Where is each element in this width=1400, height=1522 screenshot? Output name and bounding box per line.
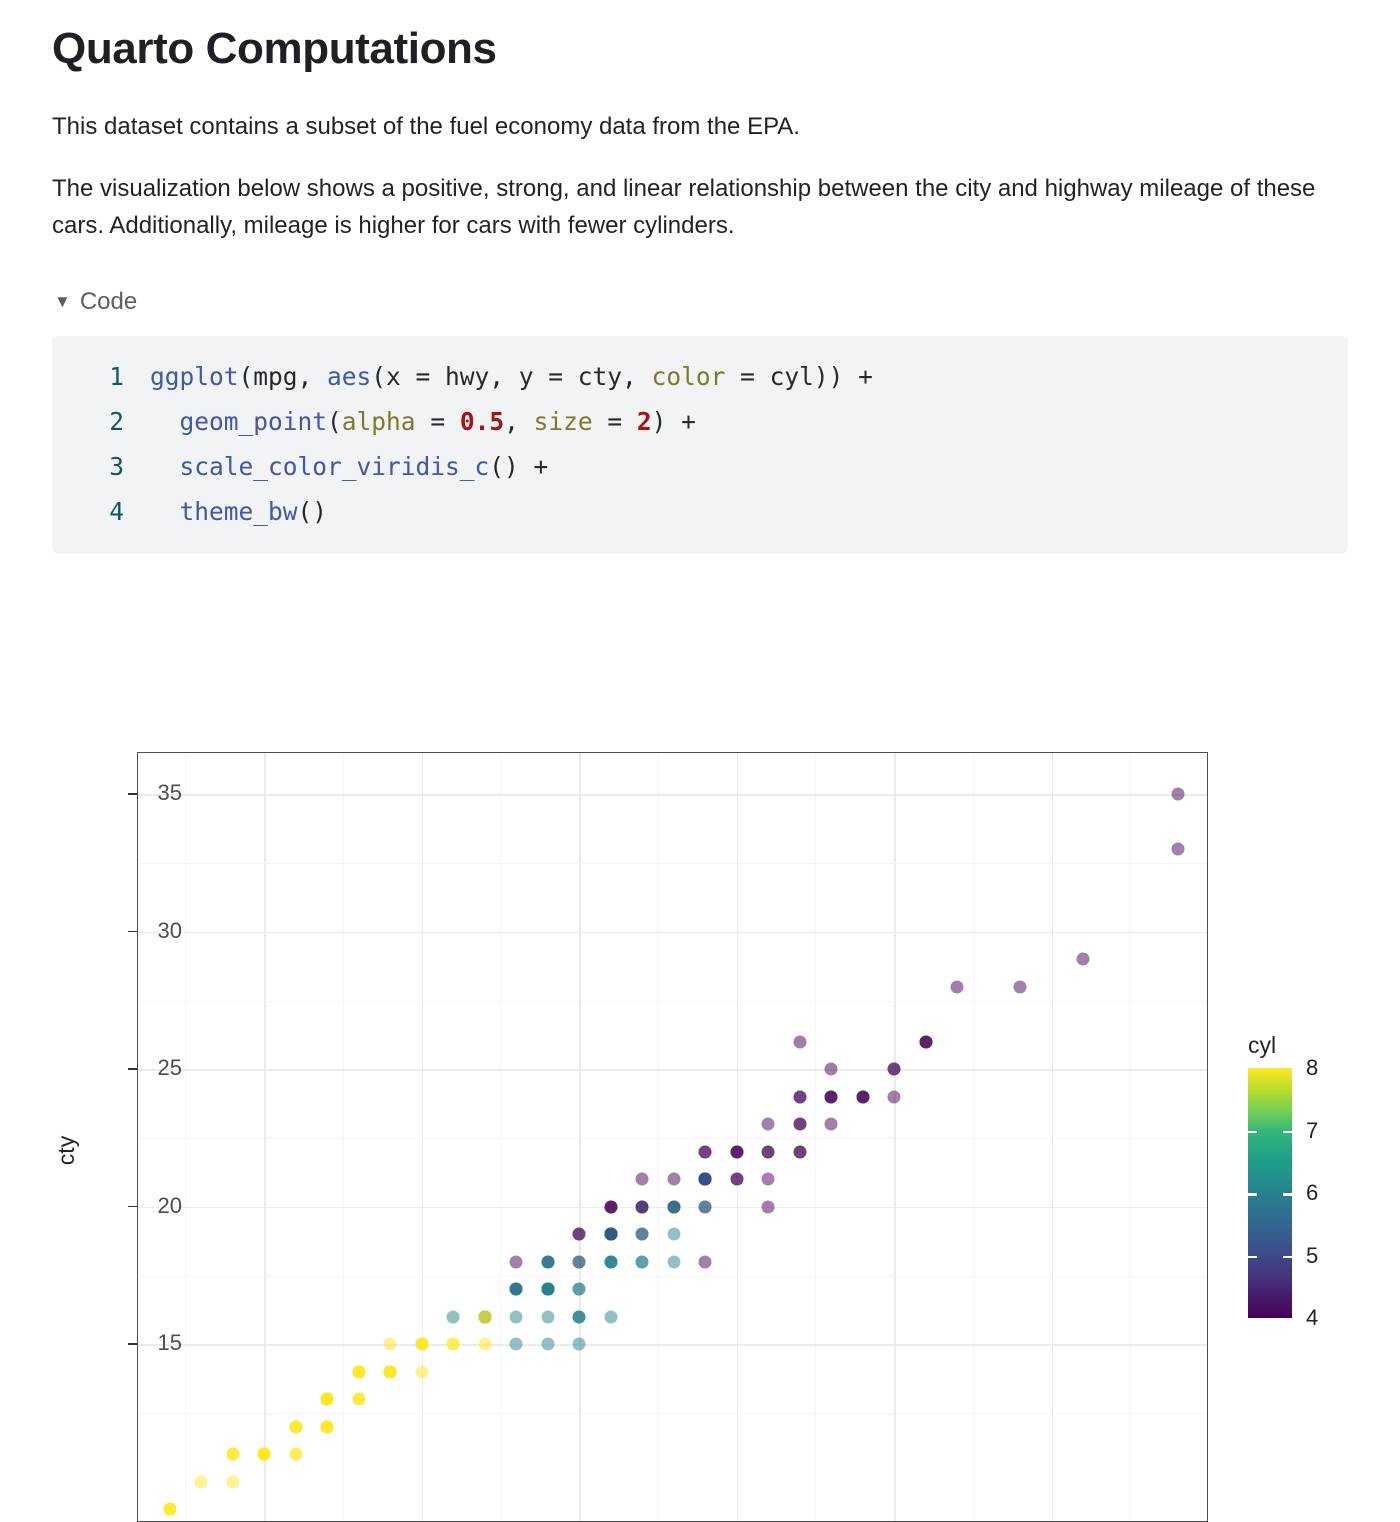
scatter-point (604, 1200, 617, 1213)
y-axis-tick-mark (128, 1206, 137, 1208)
gridline-minor-vertical (500, 753, 501, 1521)
scatter-point (415, 1365, 428, 1378)
y-axis-label: cty (53, 1136, 80, 1165)
scatter-point (541, 1338, 554, 1351)
scatter-point (793, 1035, 806, 1048)
scatter-point (541, 1255, 554, 1268)
gridline-major-horizontal (138, 794, 1207, 796)
scatter-point (510, 1338, 523, 1351)
scatter-point (762, 1173, 775, 1186)
y-axis-tick-mark (128, 1343, 137, 1345)
scatter-point (573, 1283, 586, 1296)
scatter-point (447, 1310, 460, 1323)
y-axis-tick-label: 25 (158, 1055, 182, 1081)
y-axis-tick-mark (128, 1068, 137, 1070)
scatter-point (762, 1145, 775, 1158)
scatter-point (730, 1145, 743, 1158)
legend-gradient (1248, 1068, 1292, 1318)
y-axis-tick-label: 15 (158, 1330, 182, 1356)
gridline-minor-vertical (1130, 753, 1131, 1521)
scatter-point (604, 1255, 617, 1268)
scatter-point (573, 1228, 586, 1241)
page-title: Quarto Computations (52, 24, 1352, 75)
gridline-minor-vertical (973, 753, 974, 1521)
code-line-text: theme_bw() (150, 489, 327, 534)
scatter-point (699, 1200, 712, 1213)
scatter-point (825, 1090, 838, 1103)
y-axis-tick-mark (128, 793, 137, 795)
scatter-point (793, 1145, 806, 1158)
scatter-point (636, 1228, 649, 1241)
code-line-number: 1 (52, 354, 150, 399)
scatter-point (226, 1448, 239, 1461)
scatter-point (258, 1448, 271, 1461)
gridline-minor-horizontal (138, 1413, 1207, 1414)
scatter-point (226, 1475, 239, 1488)
scatter-point (289, 1448, 302, 1461)
legend-tick-mark (1248, 1131, 1257, 1134)
scatter-plot-figure: 1520253035 cty cyl 87654 (0, 742, 1400, 1522)
code-line: 2 geom_point(alpha = 0.5, size = 2) + (52, 399, 1348, 444)
scatter-point (825, 1063, 838, 1076)
scatter-point (478, 1310, 491, 1323)
scatter-point (352, 1365, 365, 1378)
legend-tick-mark (1283, 1256, 1292, 1259)
scatter-point (321, 1393, 334, 1406)
y-axis-tick-label: 35 (158, 780, 182, 806)
document-body: Quarto Computations This dataset contain… (52, 24, 1352, 554)
scatter-point (762, 1200, 775, 1213)
scatter-point (541, 1310, 554, 1323)
scatter-point (510, 1283, 523, 1296)
intro-paragraph: This dataset contains a subset of the fu… (52, 109, 1352, 145)
scatter-point (793, 1090, 806, 1103)
scatter-point (604, 1310, 617, 1323)
gridline-minor-vertical (343, 753, 344, 1521)
code-line-number: 2 (52, 399, 150, 444)
scatter-point (667, 1255, 680, 1268)
gridline-minor-vertical (185, 753, 186, 1521)
gridline-major-vertical (579, 753, 581, 1521)
gridline-major-vertical (422, 753, 424, 1521)
scatter-point (573, 1255, 586, 1268)
legend-tick-mark (1248, 1256, 1257, 1259)
scatter-point (604, 1228, 617, 1241)
legend-colorbar[interactable]: cyl 87654 (1248, 1032, 1388, 1318)
scatter-point (667, 1228, 680, 1241)
scatter-point (163, 1503, 176, 1516)
code-line: 1ggplot(mpg, aes(x = hwy, y = cty, color… (52, 354, 1348, 399)
scatter-point (195, 1475, 208, 1488)
gridline-major-horizontal (138, 1344, 1207, 1346)
scatter-point (384, 1338, 397, 1351)
scatter-point (352, 1393, 365, 1406)
scatter-point (667, 1200, 680, 1213)
scatter-point (636, 1255, 649, 1268)
scatter-point (510, 1310, 523, 1323)
scatter-point (541, 1283, 554, 1296)
y-axis-tick-label: 20 (158, 1193, 182, 1219)
legend-tick-label: 4 (1306, 1305, 1318, 1331)
scatter-point (699, 1255, 712, 1268)
scatter-point (951, 980, 964, 993)
scatter-point (573, 1310, 586, 1323)
gridline-minor-horizontal (138, 1276, 1207, 1277)
scatter-point (667, 1173, 680, 1186)
gridline-minor-vertical (815, 753, 816, 1521)
y-axis-tick-label: 30 (158, 918, 182, 944)
gridline-major-vertical (1052, 753, 1054, 1521)
scatter-point (384, 1365, 397, 1378)
scatter-point (1171, 843, 1184, 856)
scatter-point (447, 1338, 460, 1351)
scatter-point (888, 1063, 901, 1076)
chevron-down-icon: ▼ (54, 293, 71, 310)
scatter-point (1077, 953, 1090, 966)
code-line: 4 theme_bw() (52, 489, 1348, 534)
code-fold-label: Code (80, 288, 137, 316)
legend-tick-label: 7 (1306, 1118, 1318, 1144)
gridline-major-vertical (264, 753, 266, 1521)
scatter-point (1171, 788, 1184, 801)
scatter-point (762, 1118, 775, 1131)
gridline-minor-horizontal (138, 1138, 1207, 1139)
scatter-point (699, 1145, 712, 1158)
scatter-point (699, 1173, 712, 1186)
scatter-point (730, 1173, 743, 1186)
scatter-point (825, 1118, 838, 1131)
gridline-major-vertical (894, 753, 896, 1521)
scatter-point (888, 1090, 901, 1103)
scatter-point (478, 1338, 491, 1351)
code-line-number: 3 (52, 444, 150, 489)
code-line-text: geom_point(alpha = 0.5, size = 2) + (150, 399, 696, 444)
scatter-point (856, 1090, 869, 1103)
scatter-point (510, 1255, 523, 1268)
gridline-minor-horizontal (138, 863, 1207, 864)
quarto-document-page: Quarto Computations This dataset contain… (0, 0, 1400, 1500)
gridline-minor-vertical (658, 753, 659, 1521)
code-fold-toggle[interactable]: ▼ Code (54, 288, 137, 316)
scatter-point (919, 1035, 932, 1048)
scatter-point (573, 1338, 586, 1351)
legend-tick-mark (1283, 1193, 1292, 1196)
legend-tick-label: 5 (1306, 1243, 1318, 1269)
code-line: 3 scale_color_viridis_c() + (52, 444, 1348, 489)
gridline-major-vertical (737, 753, 739, 1521)
gridline-minor-horizontal (138, 1001, 1207, 1002)
scatter-point (636, 1173, 649, 1186)
legend-tick-label: 6 (1306, 1180, 1318, 1206)
scatter-point (636, 1200, 649, 1213)
scatter-point (793, 1118, 806, 1131)
legend-tick-mark (1283, 1131, 1292, 1134)
scatter-point (1014, 980, 1027, 993)
code-line-text: scale_color_viridis_c() + (150, 444, 548, 489)
y-axis-tick-mark (128, 931, 137, 933)
scatter-point (321, 1420, 334, 1433)
code-block[interactable]: 1ggplot(mpg, aes(x = hwy, y = cty, color… (52, 336, 1348, 554)
code-line-number: 4 (52, 489, 150, 534)
gridline-major-horizontal (138, 1069, 1207, 1071)
gridline-major-horizontal (138, 932, 1207, 934)
plot-panel[interactable] (137, 752, 1208, 1522)
legend-tick-label: 8 (1306, 1055, 1318, 1081)
scatter-point (289, 1420, 302, 1433)
legend-tick-mark (1248, 1193, 1257, 1196)
scatter-point (415, 1338, 428, 1351)
code-line-text: ggplot(mpg, aes(x = hwy, y = cty, color … (150, 354, 873, 399)
description-paragraph: The visualization below shows a positive… (52, 171, 1340, 244)
